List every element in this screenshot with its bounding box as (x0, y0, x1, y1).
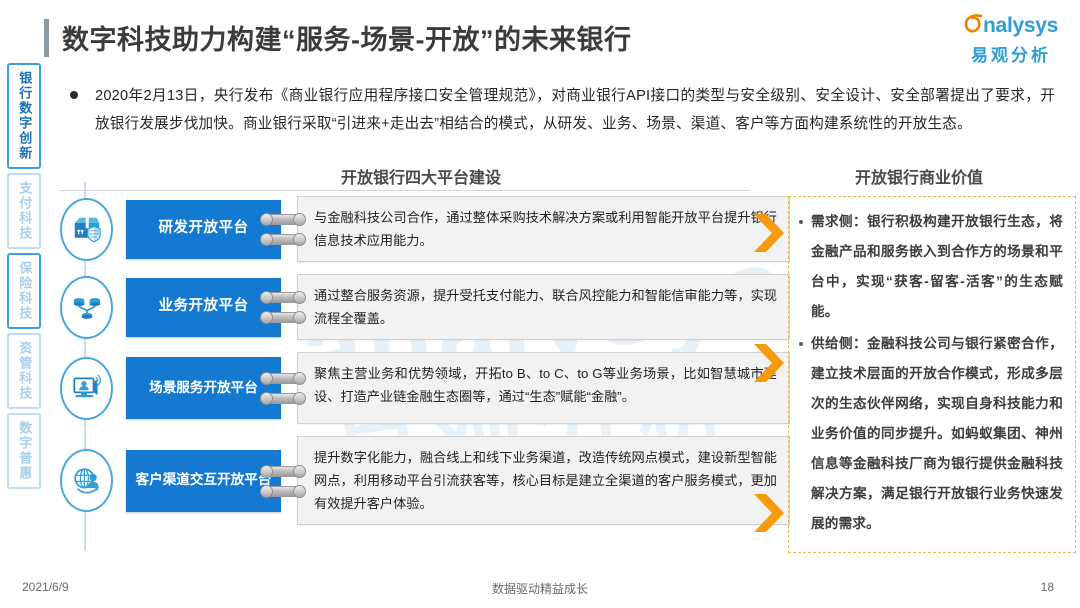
value-point-item: 供给侧：金融科技公司与银行紧密合作，建立技术层面的开放合作模式，形成多层次的生态… (799, 329, 1063, 539)
platform-label[interactable]: 场景服务开放平台 (126, 357, 281, 419)
sidebar-item-label: 支付科技 (17, 181, 32, 241)
sidebar-item-payment-tech[interactable]: 支付科技 (7, 173, 41, 249)
platform-description: 提升数字化能力，融合线上和线下业务渠道，改造传统网点模式，建设新型智能网点，利用… (297, 436, 790, 525)
platform-label[interactable]: 业务开放平台 (126, 278, 281, 337)
platform-label[interactable]: 客户渠道交互开放平台 (126, 450, 281, 512)
platform-description: 通过整合服务资源，提升受托支付能力、联合风控能力和智能信审能力等，实现流程全覆盖… (297, 274, 790, 340)
connector-bar-icon (263, 373, 303, 384)
platform-row: 客户渠道交互开放平台 提升数字化能力，融合线上和线下业务渠道，改造传统网点模式，… (0, 436, 790, 525)
platform-label-text: 客户渠道交互开放平台 (132, 472, 276, 488)
intro-paragraph: 2020年2月13日，央行发布《商业银行应用程序接口安全管理规范》，对商业银行A… (70, 82, 1055, 138)
sidebar-item-bank-digital[interactable]: 银行数字创新 (7, 63, 41, 169)
footer-tagline: 数据驱动精益成长 (0, 580, 1080, 597)
sidebar-item-insurance-tech[interactable]: 保险科技 (7, 253, 41, 329)
user-screen-signal-icon (60, 357, 113, 420)
connector-bar-icon (263, 466, 303, 477)
left-column-divider (60, 190, 750, 191)
platform-label-text: 场景服务开放平台 (145, 380, 262, 396)
business-value-panel: 需求侧：银行积极构建开放银行生态，将金融产品和服务嵌入到合作方的场景和平台中，实… (788, 196, 1076, 553)
sidebar-item-label: 数字普惠 (17, 421, 32, 481)
footer-page-number: 18 (1041, 580, 1054, 594)
database-network-icon (60, 276, 113, 339)
platform-row: 业务开放平台 通过整合服务资源，提升受托支付能力、联合风控能力和智能信审能力等，… (0, 274, 790, 340)
logo-chinese-name: 易观分析 (964, 41, 1058, 66)
chevron-right-icon (752, 492, 786, 534)
platform-label-text: 业务开放平台 (155, 298, 253, 315)
page-title: 数字科技助力构建“服务-场景-开放”的未来银行 (44, 18, 631, 57)
globe-user-icon (60, 449, 113, 512)
connector-bar-icon (263, 312, 303, 323)
title-accent-bar (44, 19, 49, 57)
title-text: 数字科技助力构建“服务-场景-开放”的未来银行 (62, 18, 631, 57)
connector-bar-icon (263, 393, 303, 404)
sidebar-item-asset-tech[interactable]: 资管科技 (7, 333, 41, 409)
intro-text: 2020年2月13日，央行发布《商业银行应用程序接口安全管理规范》，对商业银行A… (95, 82, 1055, 138)
logo-wordmark: nalysys (983, 15, 1058, 36)
chevron-right-icon (752, 212, 786, 254)
platform-description: 与金融科技公司合作，通过整体采购技术解决方案或利用智能开放平台提升银行信息技术应… (297, 196, 790, 262)
value-point-item: 需求侧：银行积极构建开放银行生态，将金融产品和服务嵌入到合作方的场景和平台中，实… (799, 207, 1063, 327)
value-point-text: 需求侧：银行积极构建开放银行生态，将金融产品和服务嵌入到合作方的场景和平台中，实… (811, 207, 1063, 327)
sidebar-tabs: 银行数字创新 支付科技 保险科技 资管科技 数字普惠 (7, 63, 41, 493)
package-shield-icon (60, 198, 113, 261)
platform-row: 场景服务开放平台 聚焦主营业务和优势领域，开拓to B、to C、to G等业务… (0, 352, 790, 424)
sidebar-item-label: 银行数字创新 (17, 71, 32, 161)
platform-label[interactable]: 研发开放平台 (126, 200, 281, 259)
platform-rows: 研发开放平台 与金融科技公司合作，通过整体采购技术解决方案或利用智能开放平台提升… (0, 196, 790, 537)
connector-bar-icon (263, 292, 303, 303)
analysys-logo: nalysys 易观分析 (964, 12, 1058, 66)
platform-description: 聚焦主营业务和优势领域，开拓to B、to C、to G等业务场景，比如智慧城市… (297, 352, 790, 424)
bullet-dot-icon (799, 342, 803, 346)
right-column-heading: 开放银行商业价值 (855, 164, 983, 188)
sidebar-item-label: 资管科技 (17, 341, 32, 401)
footer: 2021/6/9 数据驱动精益成长 18 (0, 580, 1080, 600)
bullet-dot-icon (799, 220, 803, 224)
value-point-text: 供给侧：金融科技公司与银行紧密合作，建立技术层面的开放合作模式，形成多层次的生态… (811, 329, 1063, 539)
connector-bar-icon (263, 486, 303, 497)
connector-bar-icon (263, 234, 303, 245)
connector-bar-icon (263, 214, 303, 225)
slide-root: analysys 易观分析 数字科技助力构建“服务-场景-开放”的未来银行 na… (0, 0, 1080, 608)
sidebar-item-digital-inclusive[interactable]: 数字普惠 (7, 413, 41, 489)
left-column-heading: 开放银行四大平台建设 (341, 164, 501, 188)
bullet-dot-icon (70, 91, 78, 99)
platform-label-text: 研发开放平台 (155, 220, 253, 237)
chevron-right-icon (752, 342, 786, 384)
platform-row: 研发开放平台 与金融科技公司合作，通过整体采购技术解决方案或利用智能开放平台提升… (0, 196, 790, 262)
sidebar-item-label: 保险科技 (17, 261, 32, 321)
